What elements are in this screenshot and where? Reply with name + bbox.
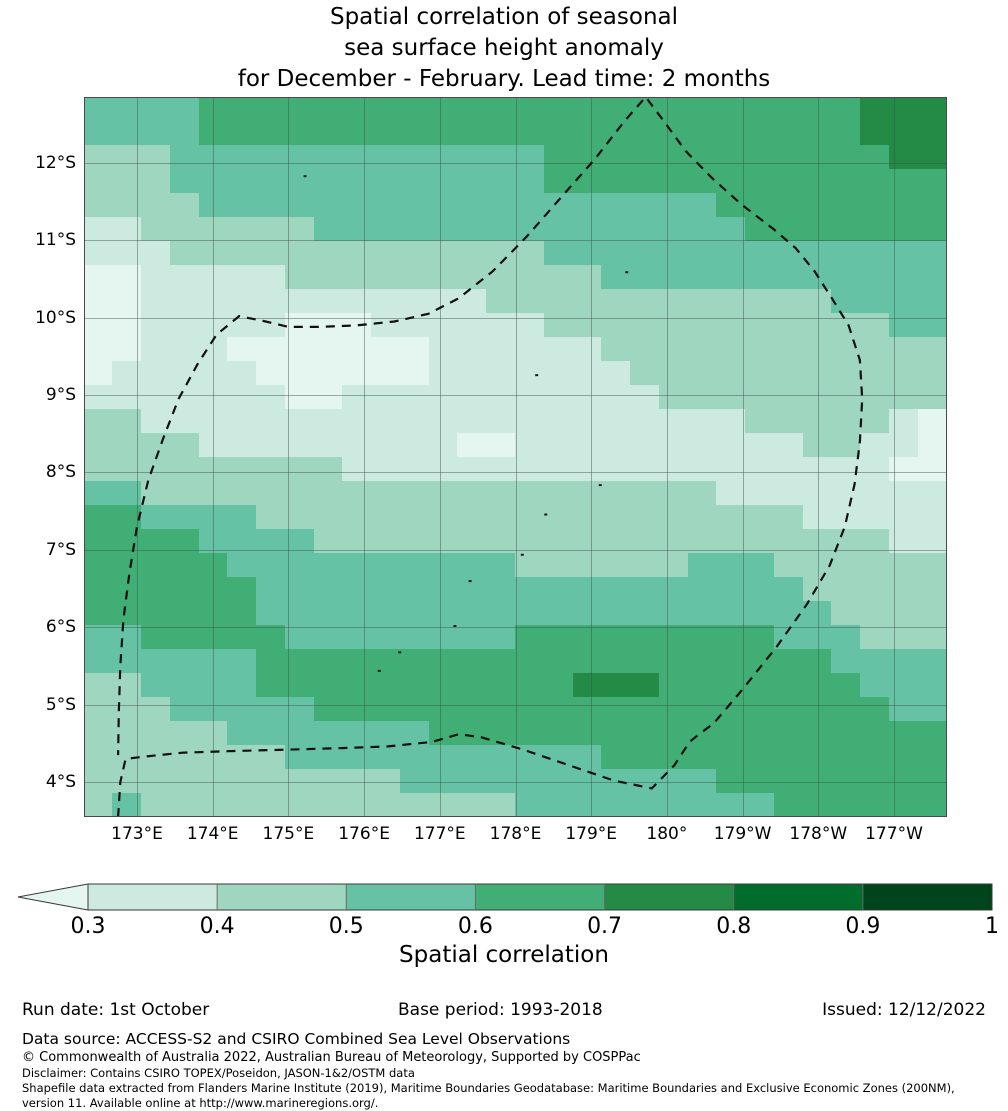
y-tick-5°S: 5°S bbox=[46, 695, 76, 715]
figure-root: Spatial correlation of seasonal sea surf… bbox=[0, 0, 1008, 1110]
colorbar-tick-1: 1 bbox=[985, 914, 999, 939]
x-tick-177°E: 177°E bbox=[414, 824, 466, 844]
metadata-row: Run date: 1st October Base period: 1993-… bbox=[0, 1000, 1008, 1026]
y-tick-4°S: 4°S bbox=[46, 772, 76, 792]
y-tick-7°S: 7°S bbox=[46, 540, 76, 560]
colorbar-tick-0.6: 0.6 bbox=[458, 914, 493, 939]
y-tick-8°S: 8°S bbox=[46, 462, 76, 482]
run-date: Run date: 1st October bbox=[22, 1000, 209, 1020]
x-tick-180°: 180° bbox=[646, 824, 687, 844]
disclaimer-note: Disclaimer: Contains CSIRO TOPEX/Poseido… bbox=[22, 1066, 997, 1081]
data-source-note: Data source: ACCESS-S2 and CSIRO Combine… bbox=[22, 1029, 997, 1049]
colorbar-swatches bbox=[0, 878, 1008, 918]
colorbar-tick-0.7: 0.7 bbox=[587, 914, 622, 939]
x-tick-178°E: 178°E bbox=[490, 824, 542, 844]
base-period: Base period: 1993-2018 bbox=[398, 1000, 603, 1020]
colorbar-title: Spatial correlation bbox=[0, 942, 1008, 968]
x-tick-174°E: 174°E bbox=[187, 824, 239, 844]
x-tick-178°W: 178°W bbox=[789, 824, 847, 844]
colorbar-extend-min-arrow bbox=[18, 884, 88, 910]
heatmap-canvas bbox=[84, 97, 947, 817]
footer-notes: Data source: ACCESS-S2 and CSIRO Combine… bbox=[22, 1029, 997, 1111]
y-axis-labels: 4°S5°S6°S7°S8°S9°S10°S11°S12°S bbox=[0, 97, 76, 817]
colorbar-band-0.7-0.8 bbox=[605, 884, 735, 910]
colorbar-tick-0.5: 0.5 bbox=[329, 914, 364, 939]
colorbar-tick-labels: 0.30.40.50.60.70.80.91 bbox=[0, 914, 1008, 942]
colorbar-tick-0.9: 0.9 bbox=[845, 914, 880, 939]
x-tick-179°E: 179°E bbox=[565, 824, 617, 844]
map-plot-area bbox=[84, 97, 947, 817]
correlation-heatmap bbox=[84, 97, 947, 817]
title-line-2: sea surface height anomaly bbox=[0, 33, 1008, 64]
title-line-3: for December - February. Lead time: 2 mo… bbox=[0, 64, 1008, 95]
colorbar-band-0.5-0.6 bbox=[346, 884, 476, 910]
x-tick-177°W: 177°W bbox=[865, 824, 923, 844]
colorbar: 0.30.40.50.60.70.80.91 Spatial correlati… bbox=[0, 878, 1008, 964]
x-tick-176°E: 176°E bbox=[338, 824, 390, 844]
y-tick-10°S: 10°S bbox=[35, 308, 76, 328]
colorbar-tick-0.3: 0.3 bbox=[71, 914, 106, 939]
y-tick-9°S: 9°S bbox=[46, 385, 76, 405]
y-tick-12°S: 12°S bbox=[35, 153, 76, 173]
title-line-1: Spatial correlation of seasonal bbox=[0, 2, 1008, 33]
colorbar-band-0.4-0.5 bbox=[217, 884, 347, 910]
issued-date: Issued: 12/12/2022 bbox=[822, 1000, 986, 1020]
shapefile-note-line-1: Shapefile data extracted from Flanders M… bbox=[22, 1081, 997, 1096]
chart-title: Spatial correlation of seasonal sea surf… bbox=[0, 0, 1008, 95]
colorbar-band-0.9-1 bbox=[863, 884, 993, 910]
colorbar-band-0.8-0.9 bbox=[734, 884, 864, 910]
y-tick-11°S: 11°S bbox=[35, 230, 76, 250]
x-tick-179°W: 179°W bbox=[714, 824, 772, 844]
x-axis-labels: 173°E174°E175°E176°E177°E178°E179°E180°1… bbox=[84, 824, 947, 854]
colorbar-tick-0.8: 0.8 bbox=[716, 914, 751, 939]
colorbar-tick-0.4: 0.4 bbox=[200, 914, 235, 939]
shapefile-note-line-2: version 11. Available online at http://w… bbox=[22, 1096, 997, 1111]
y-tick-6°S: 6°S bbox=[46, 617, 76, 637]
x-tick-175°E: 175°E bbox=[263, 824, 315, 844]
colorbar-band-0.3-0.4 bbox=[88, 884, 218, 910]
colorbar-band-0.6-0.7 bbox=[475, 884, 605, 910]
copyright-note: © Commonwealth of Australia 2022, Austra… bbox=[22, 1049, 997, 1066]
x-tick-173°E: 173°E bbox=[111, 824, 163, 844]
